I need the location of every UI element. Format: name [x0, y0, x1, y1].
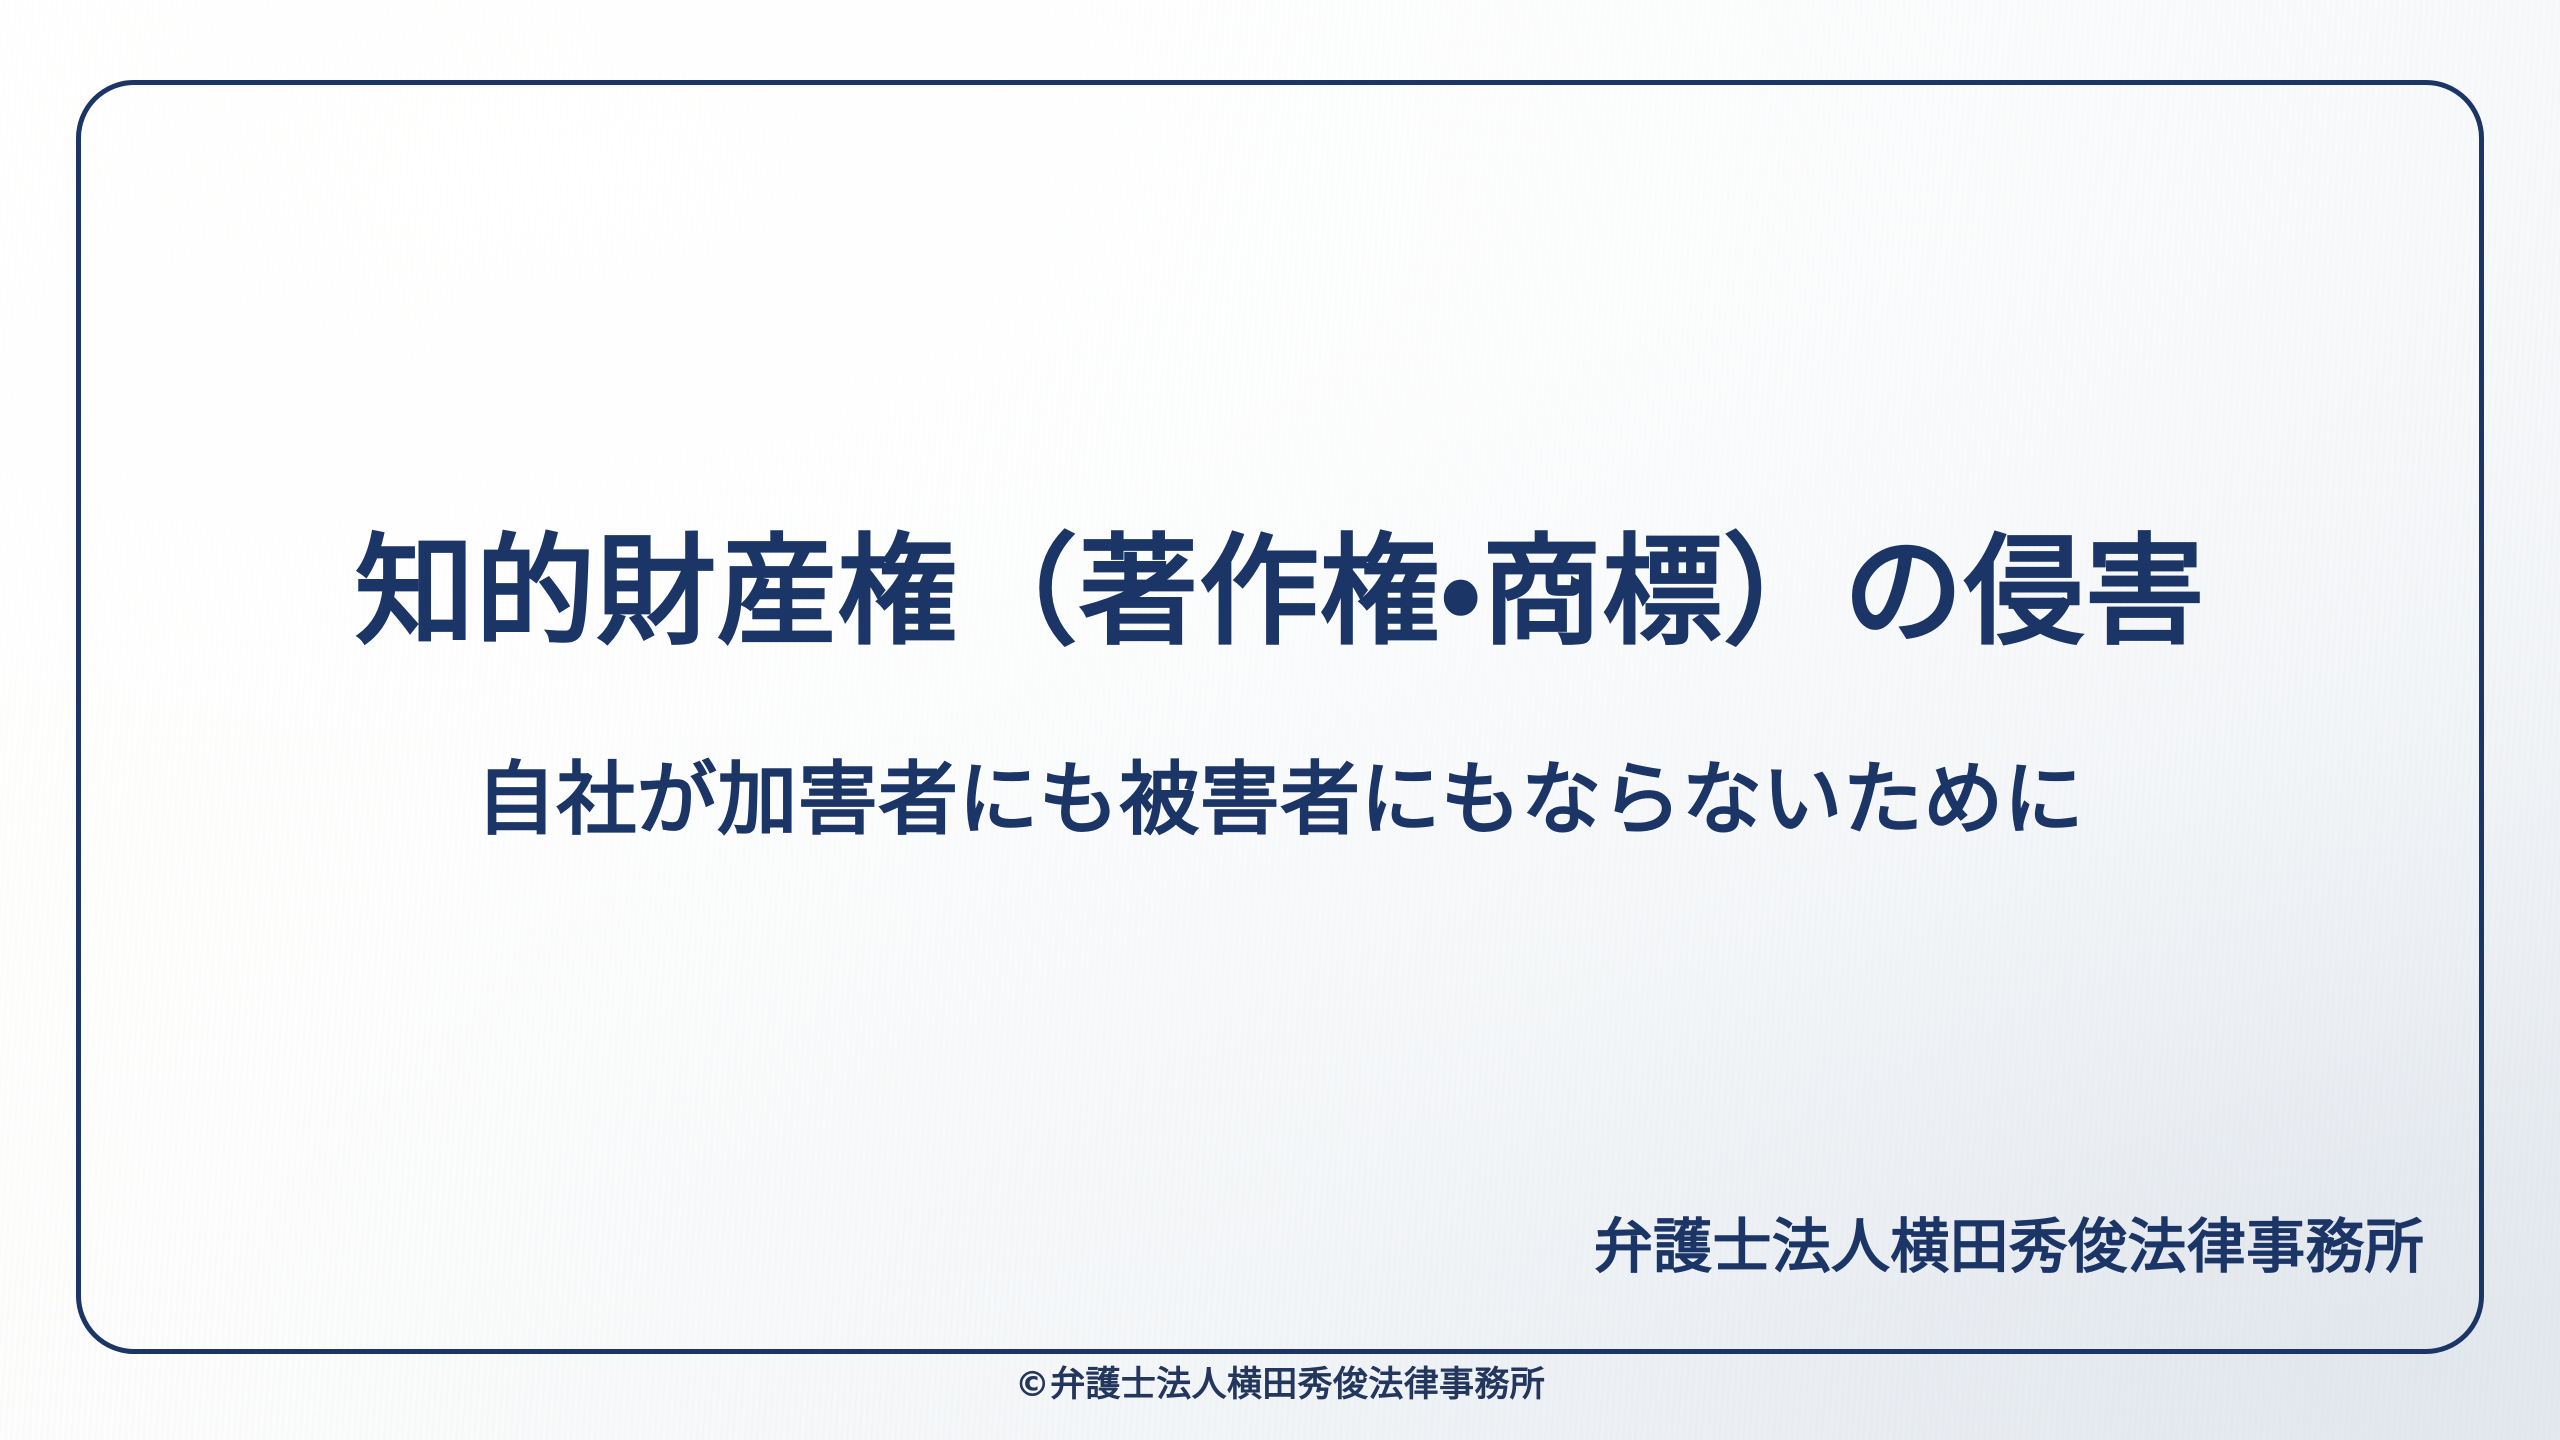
footer-copyright: ©弁護士法人横田秀俊法律事務所 [0, 1364, 2560, 1406]
title-slide: 知的財産権（著作権・商標）の侵害 自社が加害者にも被害者にもならないために 弁護… [0, 0, 2560, 1440]
slide-title: 知的財産権（著作権・商標）の侵害 [76, 520, 2484, 666]
slide-border-frame [76, 80, 2484, 1354]
slide-subtitle: 自社が加害者にも被害者にもならないために [76, 751, 2484, 849]
law-firm-attribution: 弁護士法人横田秀俊法律事務所 [76, 1212, 2424, 1283]
